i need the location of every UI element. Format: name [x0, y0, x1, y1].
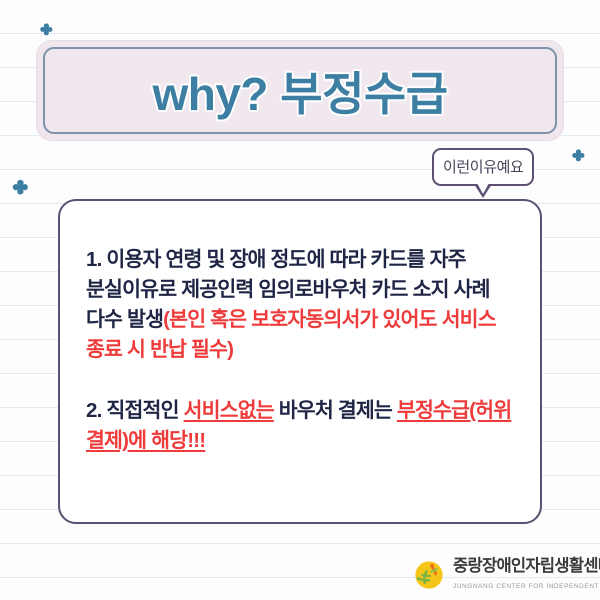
- footer-logo-text: 중랑장애인자립생활센터 JUNGNANG CENTER FOR INDEPEND…: [453, 558, 600, 593]
- poster-canvas: why? 부정수급 이런이유예요 1. 이용자 연령 및 장애 정도에 따라 카…: [0, 0, 600, 600]
- clover-mid-right-icon: [570, 148, 587, 165]
- clover-top-left-icon: [38, 22, 55, 39]
- title-panel: why? 부정수급: [36, 40, 564, 141]
- page-title: why? 부정수급: [152, 58, 447, 124]
- content-item-1: 1. 이용자 연령 및 장애 정도에 따라 카드를 자주 분실이유로 제공인력 …: [86, 245, 516, 366]
- jungnang-logo-icon: [412, 558, 446, 592]
- org-name-ko: 중랑장애인자립생활센터: [453, 557, 600, 575]
- speech-bubble: 이런이유예요: [432, 148, 534, 186]
- title-panel-inner: why? 부정수급: [43, 47, 557, 134]
- org-name-en: JUNGNANG CENTER FOR INDEPENDENT LIVING: [453, 583, 600, 590]
- footer-logo: 중랑장애인자립생활센터 JUNGNANG CENTER FOR INDEPEND…: [412, 558, 600, 593]
- content-item-2-normal-b: 바우처 결제는: [274, 399, 397, 422]
- speech-bubble-tail-fill: [477, 183, 489, 194]
- content-item-2: 2. 직접적인 서비스없는 바우처 결제는 부정수급(허위 결제)에 해당!!!: [86, 396, 516, 456]
- content-card: 1. 이용자 연령 및 장애 정도에 따라 카드를 자주 분실이유로 제공인력 …: [58, 199, 542, 524]
- speech-bubble-label: 이런이유예요: [443, 159, 523, 176]
- clover-mid-left-icon: [10, 178, 31, 199]
- content-item-2-accent-a: 서비스없는: [184, 399, 274, 422]
- content-item-2-normal-a: 2. 직접적인: [86, 399, 184, 422]
